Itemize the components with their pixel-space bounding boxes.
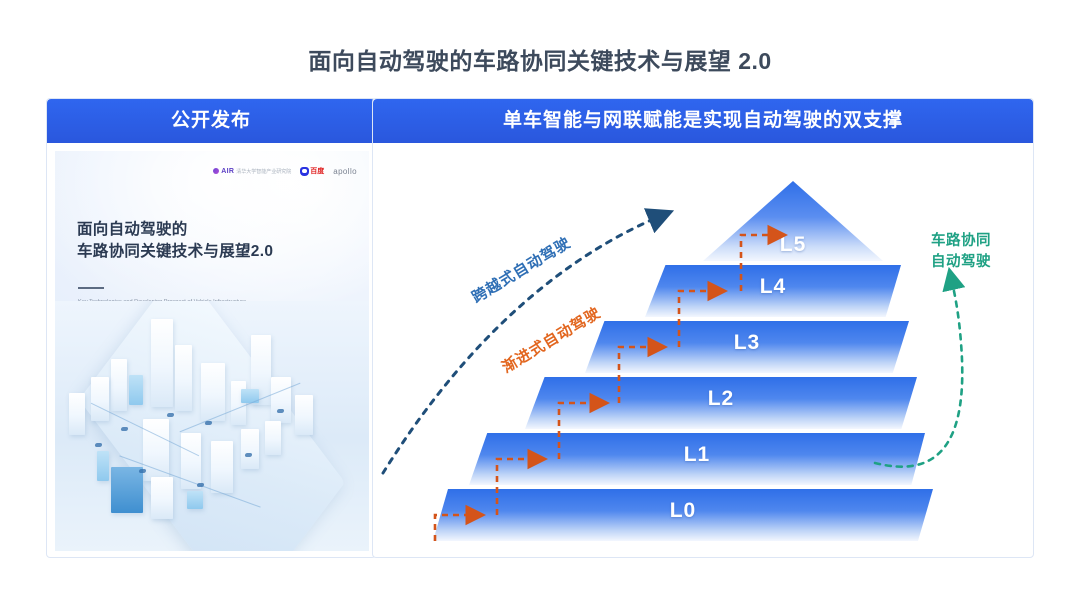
- air-logo-text: AIR: [221, 168, 234, 175]
- air-logo-name: 清华大学智能产业研究院: [236, 168, 291, 175]
- city-building: [187, 491, 203, 509]
- city-building: [211, 441, 233, 493]
- city-building: [201, 363, 225, 421]
- pyramid-diagram: L0 L1 L2 L3 L4 L5 跨越式自动驾驶 渐进式自动驾驶 车路协同 自…: [373, 143, 1035, 559]
- baidu-logo: 百度: [300, 166, 324, 176]
- right-panel: 单车智能与网联赋能是实现自动驾驶的双支撑 L0 L1 L2 L3 L4 L5 跨…: [372, 98, 1034, 558]
- air-logo: AIR 清华大学智能产业研究院: [213, 168, 291, 175]
- city-building: [97, 451, 109, 481]
- smart-city-illustration: [55, 301, 369, 551]
- baidu-bear-icon: [300, 167, 309, 176]
- progressive-step-arrows: [435, 235, 779, 541]
- right-panel-header: 单车智能与网联赋能是实现自动驾驶的双支撑: [373, 99, 1033, 143]
- cover-title-line1: 面向自动驾驶的: [77, 219, 349, 241]
- city-building: [265, 421, 281, 455]
- city-vehicle: [95, 443, 103, 447]
- left-panel-header: 公开发布: [47, 99, 375, 143]
- city-building: [129, 375, 143, 405]
- book-cover-art: AIR 清华大学智能产业研究院 百度 apollo 面向自动驾驶的 车路协同关键…: [55, 151, 369, 551]
- city-building: [271, 377, 291, 423]
- city-building: [175, 345, 192, 411]
- left-panel: 公开发布 AIR 清华大学智能产业研究院 百度 apollo 面向自动驾驶的 车…: [46, 98, 376, 558]
- cover-title: 面向自动驾驶的 车路协同关键技术与展望2.0: [77, 219, 349, 264]
- city-building: [111, 359, 127, 411]
- city-building: [151, 477, 173, 519]
- city-building: [91, 377, 109, 421]
- city-building: [111, 467, 143, 513]
- book-cover: AIR 清华大学智能产业研究院 百度 apollo 面向自动驾驶的 车路协同关键…: [55, 151, 369, 551]
- page-title: 面向自动驾驶的车路协同关键技术与展望 2.0: [0, 42, 1080, 76]
- air-mark-icon: [213, 168, 219, 174]
- city-building: [231, 381, 246, 425]
- city-building: [241, 429, 259, 469]
- vicad-curve-arrow: [875, 277, 962, 467]
- baidu-logo-text: 百度: [310, 166, 324, 176]
- leap-curve-arrow: [383, 215, 663, 473]
- cover-divider: [78, 287, 104, 289]
- apollo-logo-text: apollo: [333, 167, 357, 176]
- city-building: [295, 395, 313, 435]
- cover-title-line2: 车路协同关键技术与展望2.0: [77, 241, 349, 263]
- city-building: [69, 393, 85, 435]
- arrow-overlay: [373, 143, 1035, 559]
- cover-logo-row: AIR 清华大学智能产业研究院 百度 apollo: [213, 166, 357, 176]
- city-building: [151, 319, 173, 407]
